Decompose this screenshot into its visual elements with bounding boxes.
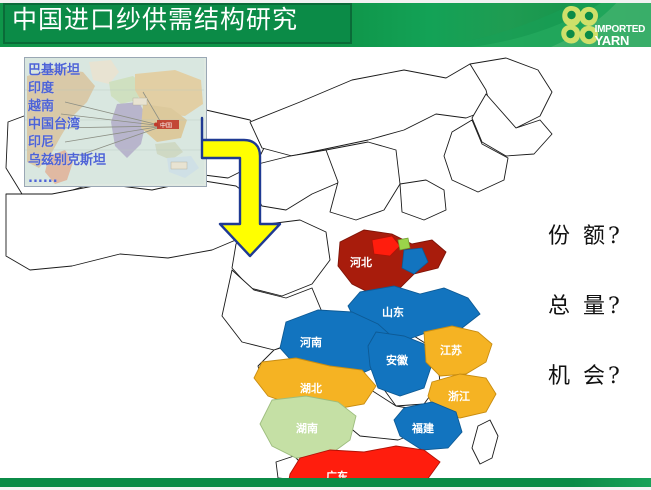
question-list: 份 额? 总 量? 机 会? — [548, 218, 644, 428]
footer-band — [0, 478, 651, 487]
imported-yarn-logo: IMPORTED YARN — [557, 2, 645, 47]
source-country-item: 巴基斯坦 — [28, 62, 198, 80]
source-country-item: 印尼 — [28, 134, 198, 152]
province-label-fujian: 福建 — [411, 421, 435, 435]
province-label-hunan: 湖南 — [296, 421, 318, 435]
province-shape-tianjin — [398, 238, 410, 250]
province-label-shandong: 山东 — [382, 305, 404, 319]
question-share: 份 额? — [548, 218, 644, 250]
source-country-list: 巴基斯坦 印度 越南 中国台湾 印尼 乌兹别克斯坦 ...... — [28, 62, 198, 188]
province-label-hebei: 河北 — [350, 255, 372, 269]
province-label-jiangsu: 江苏 — [440, 343, 462, 357]
source-country-item: 越南 — [28, 98, 198, 116]
source-country-item: 乌兹别克斯坦 — [28, 152, 198, 170]
bent-arrow — [196, 106, 308, 258]
province-label-hubei: 湖北 — [300, 381, 322, 395]
page-title: 中国进口纱供需结构研究 — [12, 5, 298, 35]
question-volume: 总 量? — [548, 288, 644, 320]
province-label-zhejiang: 浙江 — [448, 389, 470, 403]
source-country-item: 中国台湾 — [28, 116, 198, 134]
province-label-anhui: 安徽 — [386, 353, 409, 367]
slide-canvas: 中国进口纱供需结构研究 IMPORTED YARN — [0, 0, 651, 490]
province-label-henan: 河南 — [300, 335, 322, 349]
logo-wordmark: IMPORTED YARN — [595, 24, 645, 46]
source-country-item: ...... — [28, 170, 198, 188]
source-country-item: 印度 — [28, 80, 198, 98]
question-opportunity: 机 会? — [548, 358, 644, 390]
